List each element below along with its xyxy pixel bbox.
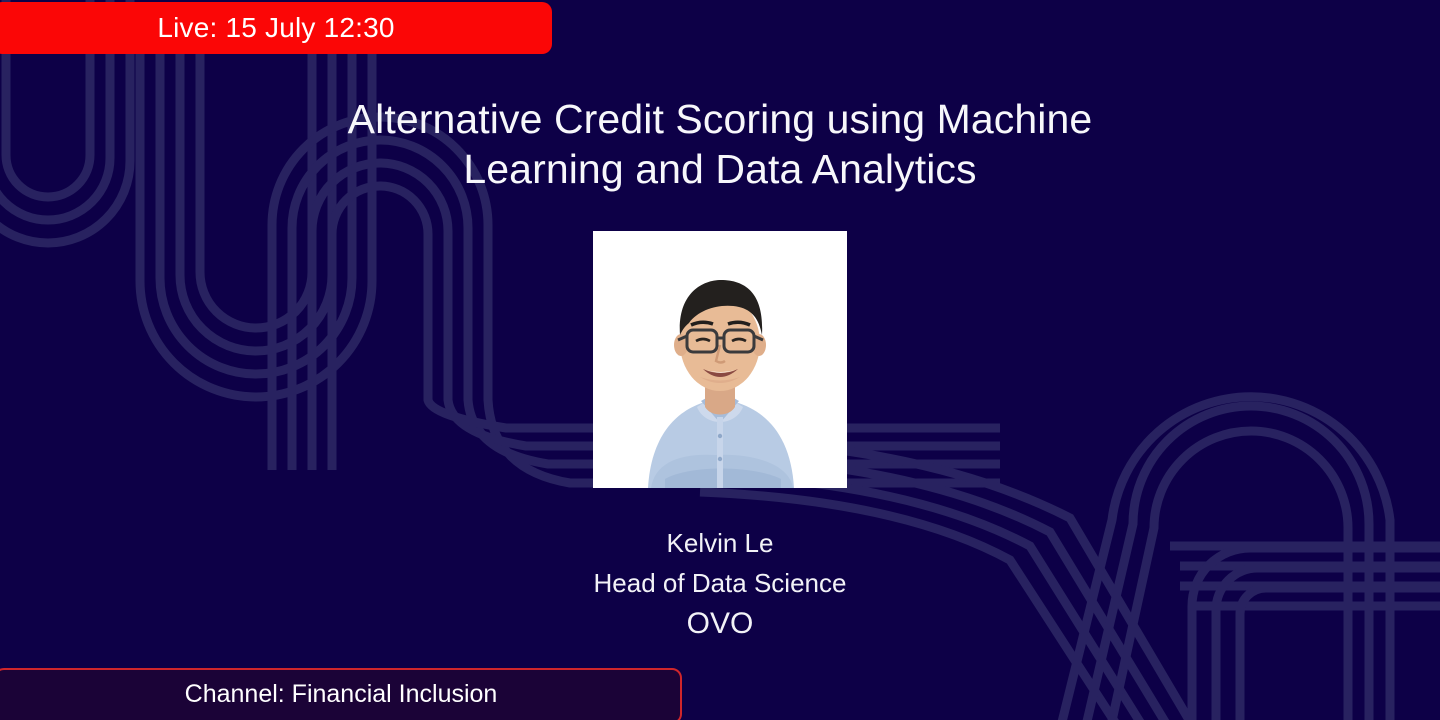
- speaker-role: Head of Data Science: [0, 563, 1440, 603]
- channel-label: Channel: Financial Inclusion: [185, 680, 498, 709]
- speaker-details: Kelvin Le Head of Data Science OVO: [0, 523, 1440, 645]
- talk-title-line-1: Alternative Credit Scoring using Machine: [0, 94, 1440, 144]
- talk-title: Alternative Credit Scoring using Machine…: [0, 94, 1440, 194]
- live-status-banner: Live: 15 July 12:30: [0, 2, 552, 54]
- channel-banner: Channel: Financial Inclusion: [0, 668, 682, 720]
- speaker-company: OVO: [0, 603, 1440, 645]
- speaker-name: Kelvin Le: [0, 523, 1440, 563]
- talk-title-line-2: Learning and Data Analytics: [0, 144, 1440, 194]
- live-status-label: Live: 15 July 12:30: [157, 12, 394, 44]
- speaker-headshot: [593, 231, 847, 488]
- slide-stage: Live: 15 July 12:30 Alternative Credit S…: [0, 0, 1440, 720]
